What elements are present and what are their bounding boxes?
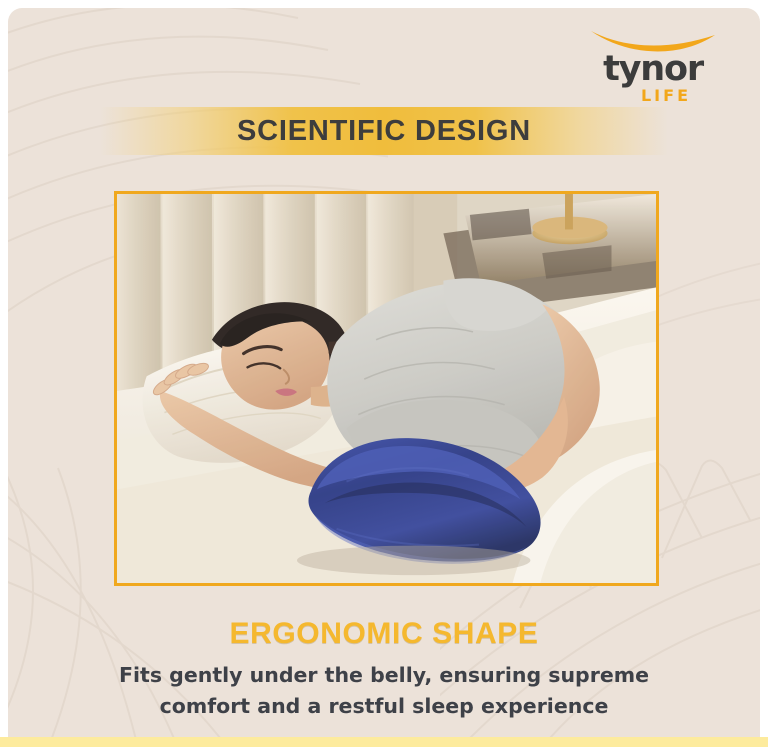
section-banner: SCIENTIFIC DESIGN xyxy=(100,107,668,155)
product-photo-frame xyxy=(114,191,659,586)
caption-title: ERGONOMIC SHAPE xyxy=(8,616,760,652)
footer-accent-strip xyxy=(0,737,768,747)
caption-body: Fits gently under the belly, ensuring su… xyxy=(8,660,760,722)
caption-body-line-1: Fits gently under the belly, ensuring su… xyxy=(8,660,760,691)
brand-sub-wordmark: LIFE xyxy=(578,87,728,104)
caption-block: ERGONOMIC SHAPE Fits gently under the be… xyxy=(8,616,760,722)
section-banner-title: SCIENTIFIC DESIGN xyxy=(237,115,531,148)
advertisement-card: tynor LIFE SCIENTIFIC DESIGN xyxy=(8,8,760,737)
brand-logo: tynor LIFE xyxy=(578,26,728,106)
product-photo xyxy=(117,194,656,583)
caption-body-line-2: comfort and a restful sleep experience xyxy=(8,691,760,722)
brand-wordmark: tynor xyxy=(578,51,728,87)
bedroom-scene-illustration xyxy=(117,194,656,583)
